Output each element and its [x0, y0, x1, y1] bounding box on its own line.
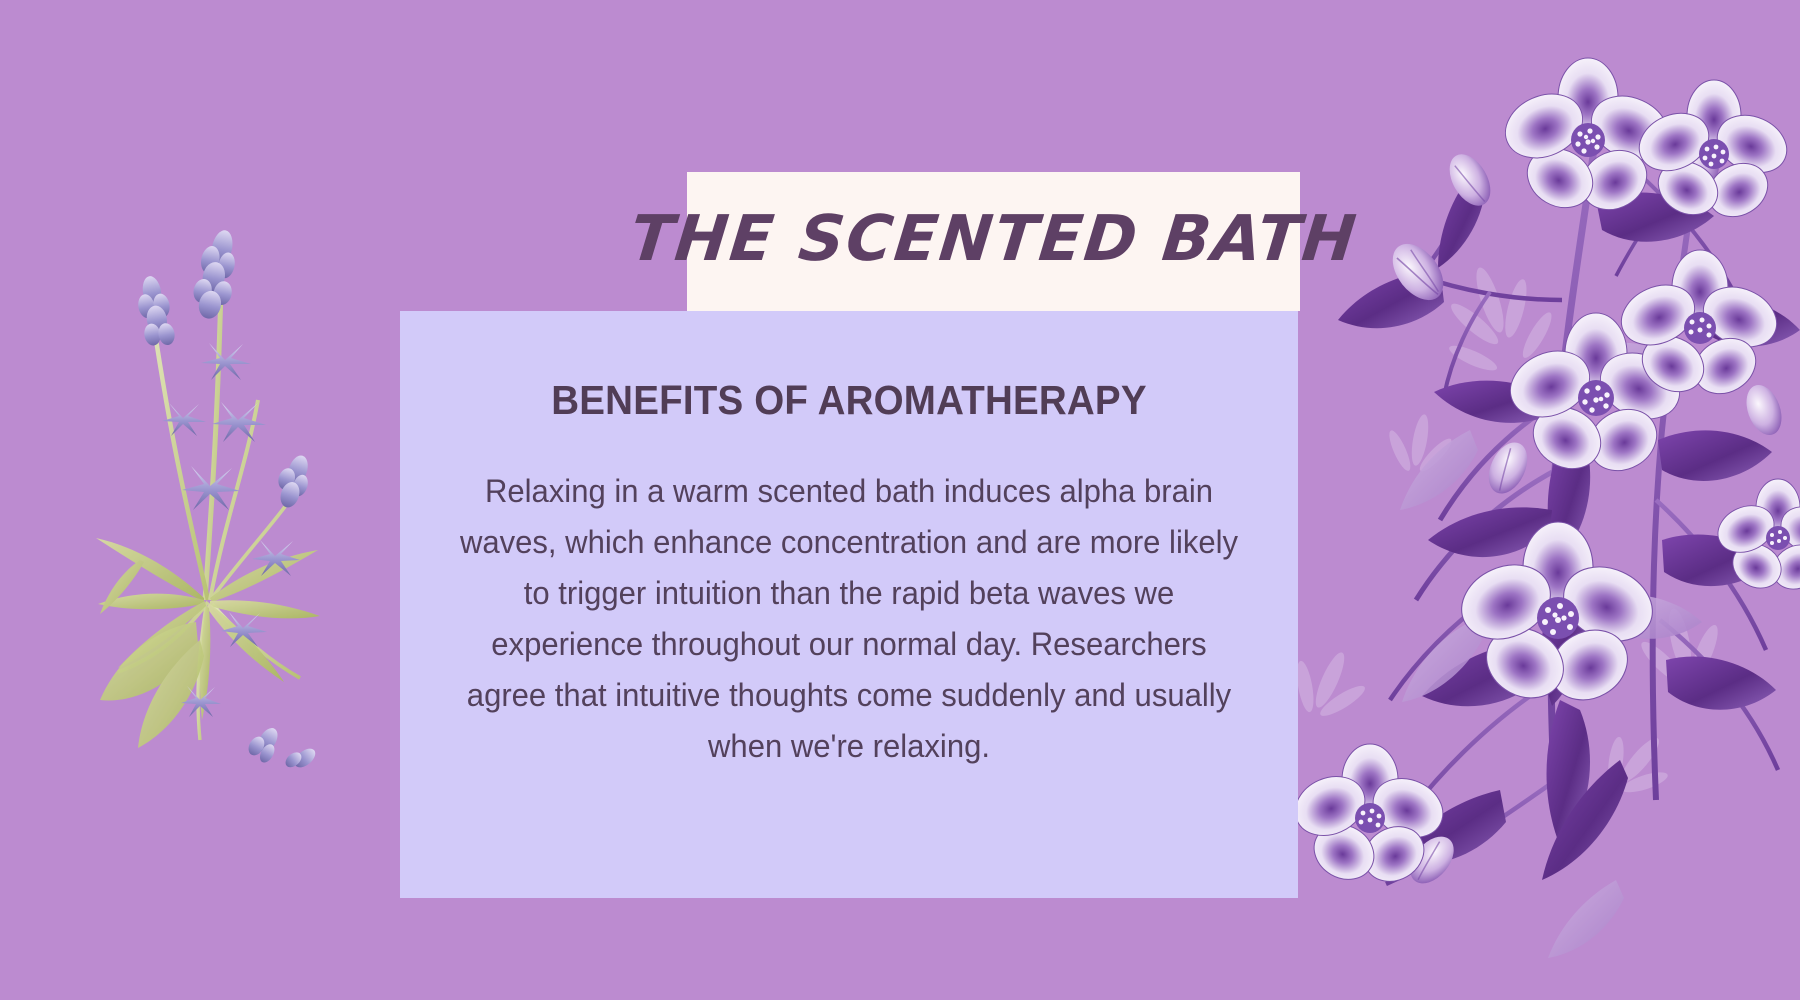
ghost-sprigs: [1258, 250, 1733, 815]
branch-stems: [1386, 120, 1778, 884]
lavender-blooms: [133, 226, 318, 775]
brand-title: THE SCENTED BATH: [680, 172, 1308, 311]
section-heading: BENEFITS OF AROMATHERAPY: [461, 311, 1237, 424]
lavender-stems: [96, 250, 320, 748]
wild-rose-blossoms: [1286, 58, 1800, 892]
title-banner: THE SCENTED BATH: [687, 172, 1300, 311]
flower-buds: [1383, 133, 1788, 892]
botanical-leaves: [1338, 168, 1800, 958]
poster-canvas: THE SCENTED BATH BENEFITS OF AROMATHERAP…: [0, 0, 1800, 1000]
content-card: BENEFITS OF AROMATHERAPY Relaxing in a w…: [400, 311, 1298, 898]
body-paragraph: Relaxing in a warm scented bath induces …: [455, 424, 1244, 772]
